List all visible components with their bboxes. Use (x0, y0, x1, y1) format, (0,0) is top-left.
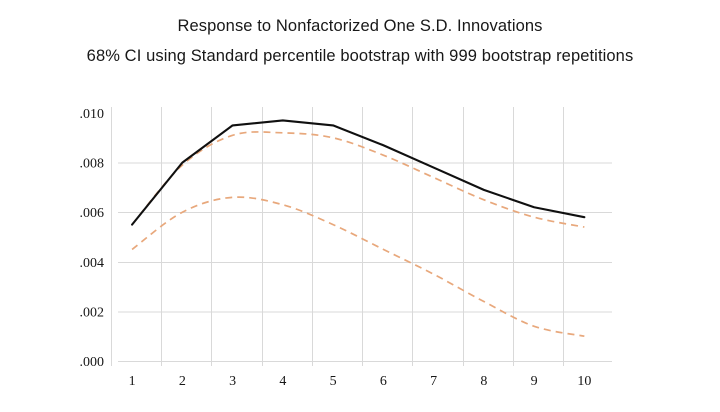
x-tick-label-10: 10 (577, 374, 591, 389)
y-tick-label-.010: .010 (80, 107, 105, 122)
series-line-impulse-response (132, 120, 584, 224)
x-tick-label-5: 5 (330, 374, 337, 389)
y-tick-label-.000: .000 (80, 355, 105, 370)
x-tick-label-3: 3 (229, 374, 236, 389)
x-axis-tick-labels: 12345678910 (129, 374, 592, 389)
x-tick-label-1: 1 (129, 374, 136, 389)
y-tick-label-.006: .006 (80, 206, 105, 221)
x-tick-label-4: 4 (279, 374, 286, 389)
chart-container: Response to Nonfactorized One S.D. Innov… (0, 0, 720, 412)
y-tick-label-.002: .002 (80, 305, 105, 320)
y-tick-label-.008: .008 (80, 157, 105, 172)
series-layer (132, 120, 584, 336)
x-tick-label-8: 8 (480, 374, 487, 389)
x-tick-label-9: 9 (531, 374, 538, 389)
y-axis-tick-labels: .000.002.004.006.008.010 (80, 107, 105, 370)
impulse-response-plot: .000.002.004.006.008.010 12345678910 (0, 0, 720, 412)
x-tick-label-2: 2 (179, 374, 186, 389)
x-tick-label-6: 6 (380, 374, 387, 389)
series-line-lower-68-ci (132, 197, 584, 336)
y-tick-label-.004: .004 (80, 256, 105, 271)
x-tick-label-7: 7 (430, 374, 437, 389)
